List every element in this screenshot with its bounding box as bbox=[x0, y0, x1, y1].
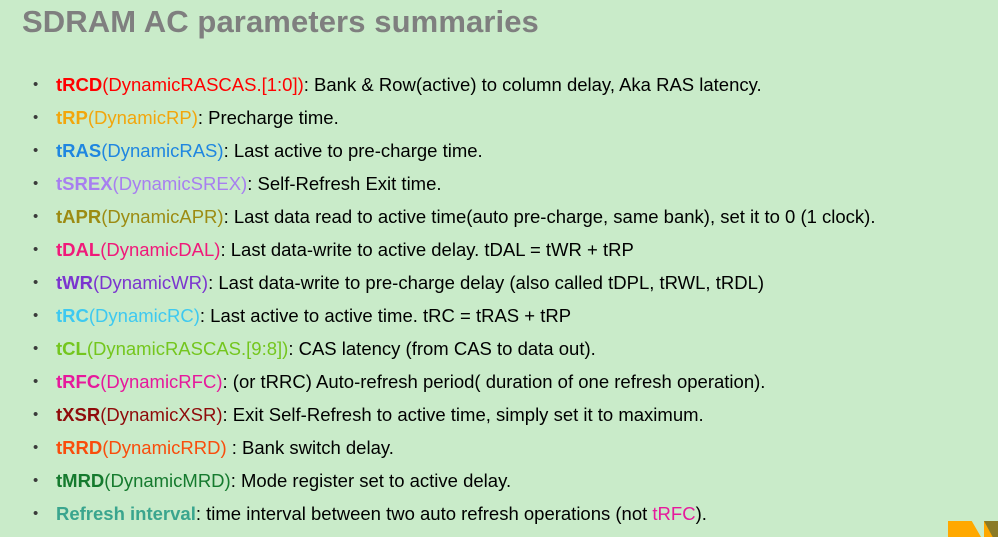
parameter-description: : Precharge time. bbox=[198, 107, 339, 128]
bullet-dot-icon: • bbox=[33, 167, 43, 200]
bullet-dot-icon: • bbox=[33, 431, 43, 464]
parameter-name: tRAS bbox=[56, 140, 101, 161]
list-item: •tRCD(DynamicRASCAS.[1:0]): Bank & Row(a… bbox=[0, 68, 998, 101]
list-item: •tDAL(DynamicDAL): Last data-write to ac… bbox=[0, 233, 998, 266]
page-title: SDRAM AC parameters summaries bbox=[22, 4, 539, 40]
slide-canvas: SDRAM AC parameters summaries •tRCD(Dyna… bbox=[0, 0, 998, 537]
parameter-register: (DynamicWR) bbox=[93, 272, 208, 293]
parameter-name: tRCD bbox=[56, 74, 102, 95]
list-item: •tRP(DynamicRP): Precharge time. bbox=[0, 101, 998, 134]
bullet-dot-icon: • bbox=[33, 464, 43, 497]
parameter-description: : Last active to pre-charge time. bbox=[224, 140, 483, 161]
parameter-description: : Mode register set to active delay. bbox=[231, 470, 511, 491]
bullet-dot-icon: • bbox=[33, 497, 43, 530]
inline-parameter-reference: tRFC bbox=[652, 503, 695, 524]
parameter-description: : (or tRRC) Auto-refresh period( duratio… bbox=[223, 371, 766, 392]
list-item: •Refresh interval: time interval between… bbox=[0, 497, 998, 530]
parameter-register: (DynamicXSR) bbox=[100, 404, 222, 425]
parameter-name: tRP bbox=[56, 107, 88, 128]
list-item: •tMRD(DynamicMRD): Mode register set to … bbox=[0, 464, 998, 497]
parameter-name: tSREX bbox=[56, 173, 113, 194]
parameter-name: tAPR bbox=[56, 206, 101, 227]
bullet-list: •tRCD(DynamicRASCAS.[1:0]): Bank & Row(a… bbox=[0, 68, 998, 530]
parameter-name: tWR bbox=[56, 272, 93, 293]
parameter-name: tDAL bbox=[56, 239, 100, 260]
parameter-register: (DynamicRP) bbox=[88, 107, 198, 128]
parameter-description: : Last data read to active time(auto pre… bbox=[224, 206, 876, 227]
list-item: •tWR(DynamicWR): Last data-write to pre-… bbox=[0, 266, 998, 299]
parameter-register: (DynamicRFC) bbox=[100, 371, 222, 392]
bullet-dot-icon: • bbox=[33, 266, 43, 299]
list-item: •tXSR(DynamicXSR): Exit Self-Refresh to … bbox=[0, 398, 998, 431]
parameter-name: tRFC bbox=[56, 371, 100, 392]
parameter-description: : time interval between two auto refresh… bbox=[196, 503, 653, 524]
bullet-dot-icon: • bbox=[33, 200, 43, 233]
parameter-description-tail: ). bbox=[696, 503, 707, 524]
parameter-description: : Self-Refresh Exit time. bbox=[247, 173, 441, 194]
parameter-register: (DynamicMRD) bbox=[104, 470, 230, 491]
parameter-register: (DynamicAPR) bbox=[101, 206, 223, 227]
parameter-name: tRRD bbox=[56, 437, 102, 458]
parameter-register: (DynamicRAS) bbox=[101, 140, 223, 161]
parameter-name: tMRD bbox=[56, 470, 104, 491]
parameter-register: (DynamicRRD) bbox=[102, 437, 226, 458]
parameter-description: : Bank & Row(active) to column delay, Ak… bbox=[304, 74, 762, 95]
bullet-dot-icon: • bbox=[33, 299, 43, 332]
parameter-description: : Last active to active time. tRC = tRAS… bbox=[200, 305, 571, 326]
parameter-description: : Bank switch delay. bbox=[227, 437, 394, 458]
bullet-dot-icon: • bbox=[33, 332, 43, 365]
list-item: •tCL(DynamicRASCAS.[9:8]): CAS latency (… bbox=[0, 332, 998, 365]
parameter-register: (DynamicDAL) bbox=[100, 239, 220, 260]
parameter-name: tXSR bbox=[56, 404, 100, 425]
parameter-name: tCL bbox=[56, 338, 87, 359]
parameter-name: tRC bbox=[56, 305, 89, 326]
parameter-register: (DynamicRASCAS.[9:8]) bbox=[87, 338, 289, 359]
bullet-dot-icon: • bbox=[33, 398, 43, 431]
parameter-description: : CAS latency (from CAS to data out). bbox=[288, 338, 595, 359]
parameter-description: : Last data-write to pre-charge delay (a… bbox=[208, 272, 764, 293]
parameter-register: (DynamicRASCAS.[1:0]) bbox=[102, 74, 304, 95]
list-item: •tRAS(DynamicRAS): Last active to pre-ch… bbox=[0, 134, 998, 167]
parameter-register: (DynamicSREX) bbox=[113, 173, 248, 194]
list-item: •tRFC(DynamicRFC): (or tRRC) Auto-refres… bbox=[0, 365, 998, 398]
parameter-description: : Exit Self-Refresh to active time, simp… bbox=[223, 404, 704, 425]
bullet-dot-icon: • bbox=[33, 365, 43, 398]
list-item: •tRC(DynamicRC): Last active to active t… bbox=[0, 299, 998, 332]
bullet-dot-icon: • bbox=[33, 68, 43, 101]
parameter-name: Refresh interval bbox=[56, 503, 196, 524]
bullet-dot-icon: • bbox=[33, 134, 43, 167]
list-item: •tRRD(DynamicRRD) : Bank switch delay. bbox=[0, 431, 998, 464]
parameter-register: (DynamicRC) bbox=[89, 305, 200, 326]
bullet-dot-icon: • bbox=[33, 101, 43, 134]
bullet-dot-icon: • bbox=[33, 233, 43, 266]
parameter-description: : Last data-write to active delay. tDAL … bbox=[220, 239, 633, 260]
list-item: •tAPR(DynamicAPR): Last data read to act… bbox=[0, 200, 998, 233]
list-item: •tSREX(DynamicSREX): Self-Refresh Exit t… bbox=[0, 167, 998, 200]
